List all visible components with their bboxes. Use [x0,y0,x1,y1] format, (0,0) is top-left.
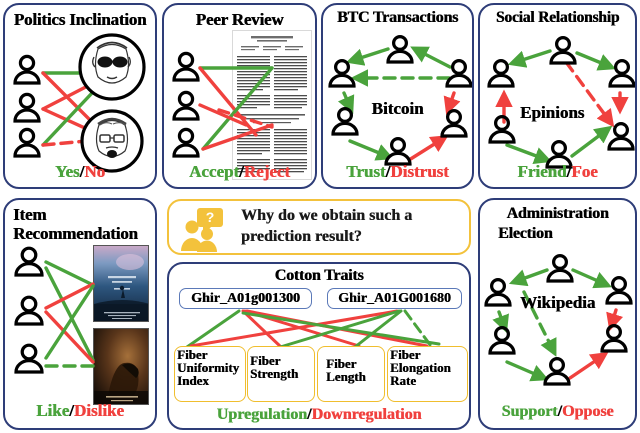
legend-positive: Friend [517,162,566,181]
graph-politics [5,5,155,187]
panel-body: BTC Transactions [323,5,472,187]
trait-box-2[interactable]: Fiber Strength [247,346,315,402]
panel-administration-election: Administration Election [478,198,637,430]
legend-positive: Yes [55,162,80,181]
trait-box-4-line3: Rate [390,374,465,387]
candidate-face-sunglasses-icon [80,35,144,99]
legend-negative: Reject [244,162,290,181]
panel-legend: Upregulation/Downregulation [169,406,469,424]
legend-negative: Distrust [390,162,449,181]
panel-politics-inclination: Politics Inclination [3,3,157,189]
people-question-icon: ? [177,204,233,256]
panel-legend: Friend/Foe [480,162,635,182]
panel-body: Item Recommendation [5,200,155,428]
panel-center-label: Wikipedia [520,293,595,313]
trait-box-3-line2: Length [326,370,382,383]
legend-positive: Upregulation [217,406,307,423]
legend-positive: Accept [189,162,239,181]
graph-admin-election [480,200,635,428]
trait-box-1-line3: Index [177,374,243,387]
panel-body: Administration Election [480,200,635,428]
question-text-line2: prediction result? [241,228,362,247]
panel-body: Social Relationship [480,5,635,187]
panel-legend: Accept/Reject [164,162,315,182]
panel-body: Cotton Traits Ghir_A01g001300 Ghir_A01G0… [169,264,469,428]
panel-center-label: Bitcoin [323,99,472,119]
graph-btc [323,5,472,187]
legend-positive: Support [501,403,557,420]
panel-center-label: Epinions [520,103,584,123]
panel-social-relationship: Social Relationship [478,3,637,189]
trait-box-2-line2: Strength [250,367,312,380]
graph-social [480,5,635,187]
panel-body: Politics Inclination [5,5,155,187]
panel-cotton-traits: Cotton Traits Ghir_A01g001300 Ghir_A01G0… [167,262,471,430]
panel-peer-review: Peer Review [162,3,317,189]
panel-legend: Trust/Distrust [323,162,472,182]
panel-btc-transactions: BTC Transactions [321,3,474,189]
panel-body: Peer Review [164,5,315,187]
trait-box-1[interactable]: Fiber Uniformity Index [174,346,246,402]
legend-negative: Oppose [562,403,614,420]
svg-text:?: ? [206,209,215,225]
panel-legend: Yes/No [5,162,155,182]
legend-positive: Trust [346,162,385,181]
trait-box-3[interactable]: Fiber Length [317,346,385,402]
legend-positive: Like [36,401,69,420]
trait-box-4[interactable]: Fiber Elongation Rate [387,346,468,402]
graph-peer-review [164,5,315,187]
legend-negative: Downregulation [311,406,421,423]
graph-item-rec [5,200,155,428]
question-text-line1: Why do we obtain such a [241,207,412,226]
question-banner: ? Why do we obtain such a prediction res… [167,199,471,255]
panel-legend: Like/Dislike [5,401,155,421]
legend-negative: Foe [571,162,597,181]
panel-legend: Support/Oppose [480,403,635,421]
legend-negative: No [84,162,105,181]
figure-root: Politics Inclination [0,0,640,433]
legend-negative: Dislike [74,401,124,420]
panel-item-recommendation: Item Recommendation [3,198,157,430]
